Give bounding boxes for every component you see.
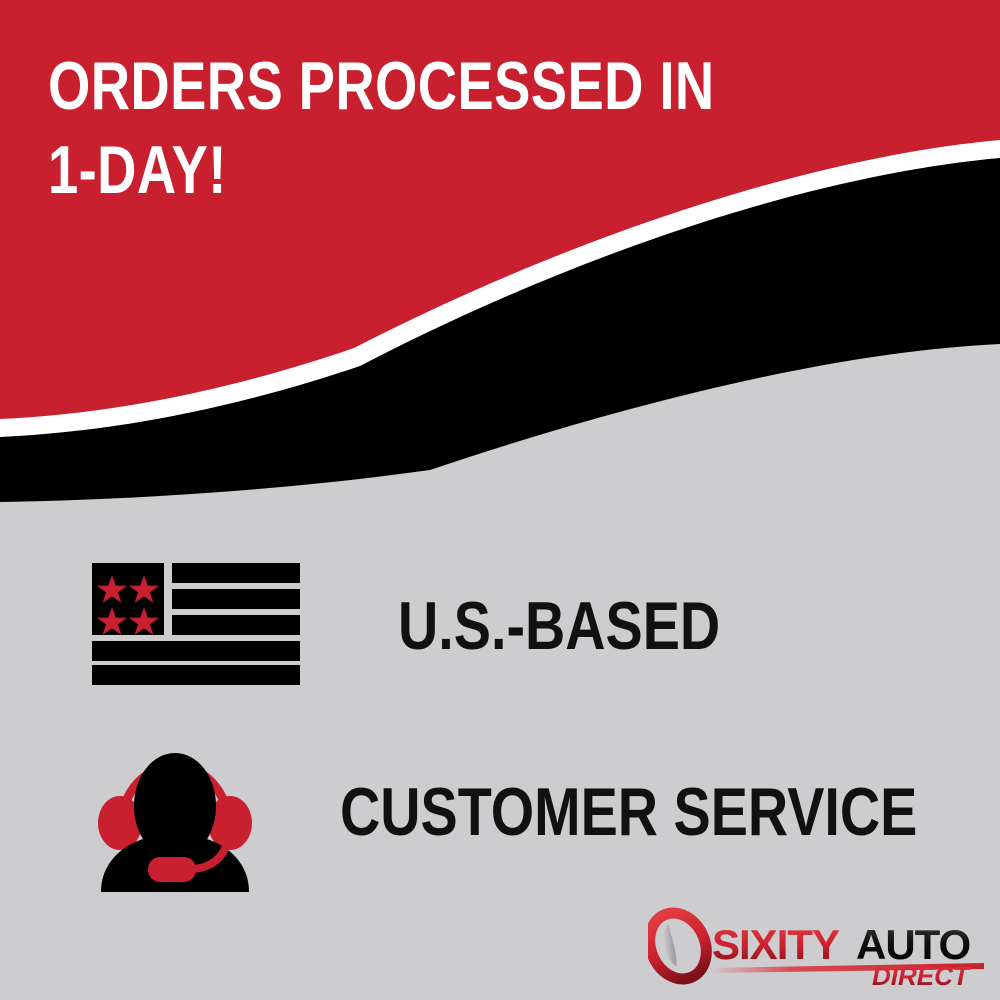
logo-word-sixity: SIXITY bbox=[712, 921, 840, 968]
us-flag-icon-wrapper bbox=[92, 563, 300, 690]
flag-canton bbox=[92, 563, 164, 635]
headline-line-1: ORDERS PROCESSED IN bbox=[48, 44, 656, 128]
us-flag-icon bbox=[92, 563, 300, 685]
promo-banner: ORDERS PROCESSED IN 1-DAY! bbox=[0, 0, 1000, 1000]
sixity-ring-icon bbox=[648, 906, 716, 986]
headset-support-icon bbox=[92, 728, 258, 892]
logo-word-direct: DIRECT bbox=[872, 961, 971, 986]
page-title: ORDERS PROCESSED IN 1-DAY! bbox=[48, 44, 656, 212]
feature-row-customer-service: CUSTOMER SERVICE bbox=[92, 722, 1000, 902]
headline-line-2: 1-DAY! bbox=[48, 128, 656, 212]
feature-label-customer-service: CUSTOMER SERVICE bbox=[340, 778, 917, 846]
feature-row-us-based: U.S.-BASED bbox=[92, 556, 791, 696]
headset-microphone bbox=[148, 857, 196, 882]
headset-support-icon-wrapper bbox=[92, 728, 258, 897]
feature-label-us-based: U.S.-BASED bbox=[398, 592, 720, 660]
flag-short-stripes bbox=[172, 563, 300, 635]
brand-logo[interactable]: SIXITY AUTO DIRECT bbox=[648, 906, 984, 986]
flag-full-stripes bbox=[92, 641, 300, 685]
